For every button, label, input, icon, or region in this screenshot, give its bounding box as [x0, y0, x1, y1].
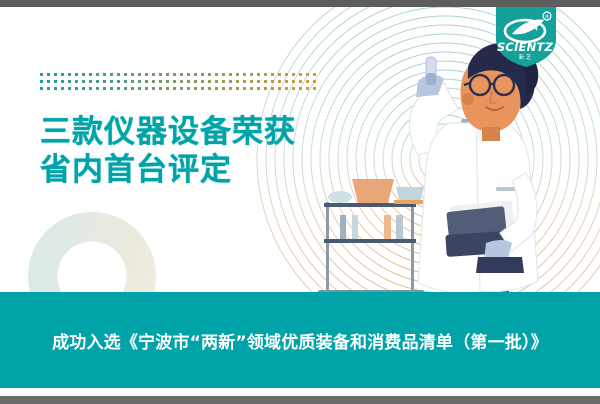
poster-canvas: 三款仪器设备荣获 省内首台评定: [0, 7, 600, 396]
dot-grid-row: [40, 87, 316, 90]
dot-grid-decoration: [40, 73, 316, 90]
top-frame-bar: [0, 0, 600, 7]
scientz-logo[interactable]: ® SCIENTZ 新 芝: [492, 7, 560, 67]
logo-subwordmark: 新 芝: [519, 53, 532, 61]
page-title-line-2: 省内首台评定: [40, 151, 296, 189]
logo-wordmark: SCIENTZ: [497, 40, 554, 54]
dot-grid-row: [40, 73, 316, 76]
banner-text: 成功入选《宁波市“两新”领域优质装备和消费品清单（第一批）》: [52, 328, 548, 353]
registered-mark: ®: [545, 14, 550, 21]
page-title-line-1: 三款仪器设备荣获: [40, 113, 296, 151]
page-title: 三款仪器设备荣获 省内首台评定: [40, 113, 296, 189]
scientist-illustration: [300, 27, 600, 327]
bottom-frame-bar: [0, 396, 600, 404]
dot-grid-row: [40, 80, 316, 83]
bottom-banner: 成功入选《宁波市“两新”领域优质装备和消费品清单（第一批）》: [0, 292, 600, 388]
